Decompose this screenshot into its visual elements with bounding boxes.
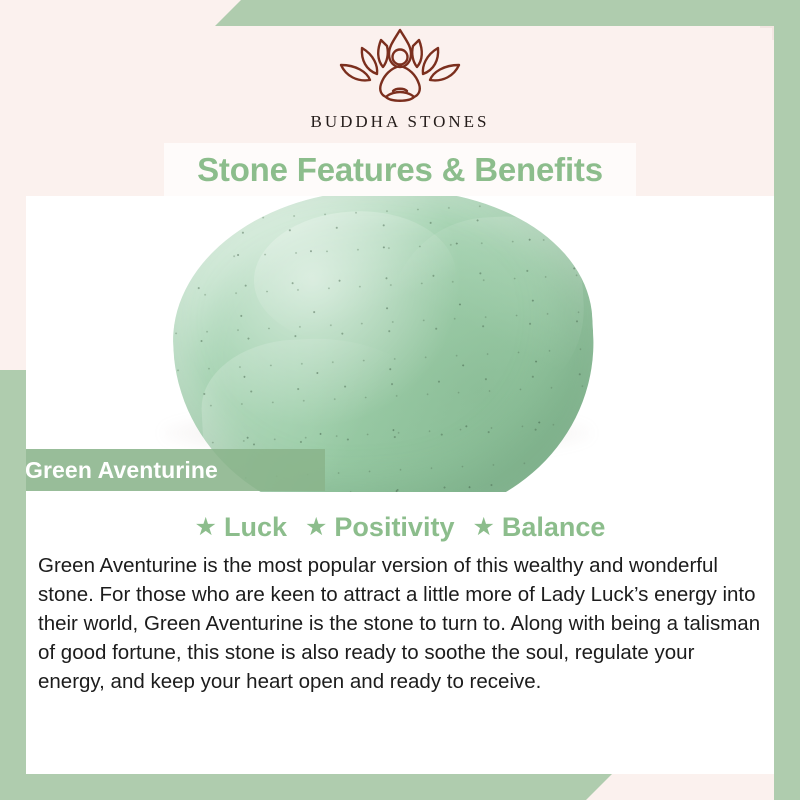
star-icon: ★ bbox=[305, 515, 327, 540]
benefit-item-luck: ★ Luck bbox=[195, 512, 287, 543]
star-icon: ★ bbox=[472, 515, 494, 540]
stone-speckle-texture bbox=[166, 196, 603, 492]
benefit-label: Positivity bbox=[334, 512, 454, 543]
stone-name-label: Green Aventurine bbox=[0, 449, 325, 491]
section-title-banner: Stone Features & Benefits bbox=[164, 143, 636, 196]
brand-name: BUDDHA STONES bbox=[311, 112, 490, 132]
benefit-item-positivity: ★ Positivity bbox=[305, 512, 454, 543]
brand-logo: BUDDHA STONES bbox=[0, 24, 800, 132]
frame-corner-notch-icon bbox=[760, 26, 774, 40]
frame-right-bar bbox=[774, 0, 800, 800]
benefit-label: Balance bbox=[502, 512, 606, 543]
hero-image bbox=[26, 196, 774, 492]
benefit-item-balance: ★ Balance bbox=[472, 512, 605, 543]
benefit-label: Luck bbox=[224, 512, 287, 543]
content-panel: ★ Luck ★ Positivity ★ Balance Green Aven… bbox=[26, 492, 774, 774]
frame-left-bar bbox=[0, 370, 26, 800]
star-icon: ★ bbox=[195, 515, 217, 540]
benefits-list: ★ Luck ★ Positivity ★ Balance bbox=[26, 492, 774, 543]
green-aventurine-stone-image bbox=[166, 196, 603, 492]
page-title: Stone Features & Benefits bbox=[197, 151, 603, 189]
stone-name-text: Green Aventurine bbox=[0, 457, 218, 484]
stone-description: Green Aventurine is the most popular ver… bbox=[38, 552, 762, 696]
stone-info-card: BUDDHA STONES Stone Features & Benefits … bbox=[0, 0, 800, 800]
frame-top-bar bbox=[215, 0, 800, 26]
frame-bottom-bar bbox=[0, 774, 612, 800]
lotus-meditation-icon bbox=[315, 24, 485, 106]
